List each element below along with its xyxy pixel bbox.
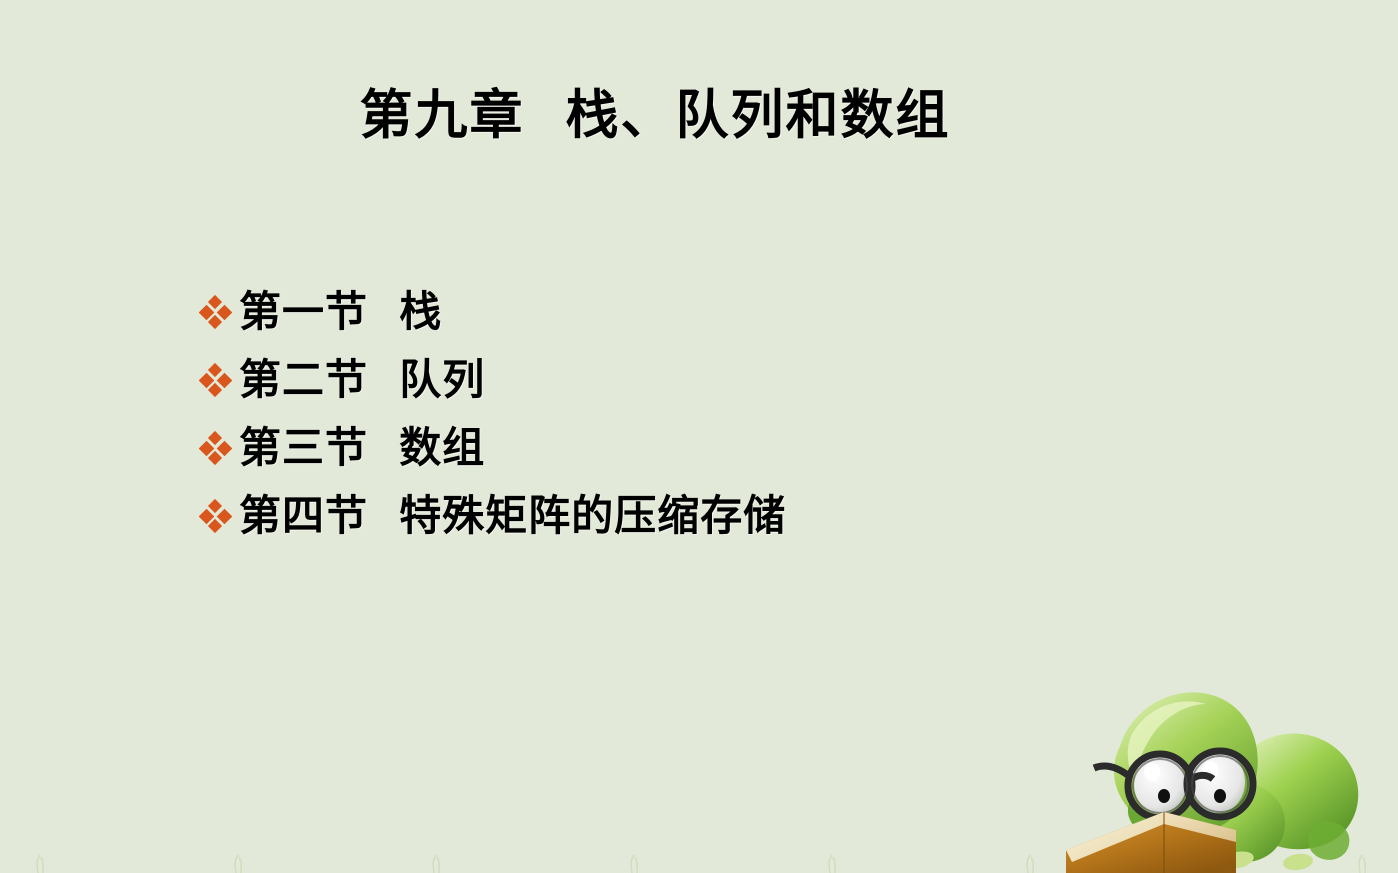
- outline-item-label: 第三节 数组: [239, 427, 485, 469]
- outline-item-label: 第四节 特殊矩阵的压缩存储: [239, 495, 786, 537]
- presentation-slide: 第九章 栈、队列和数组 第一节 栈 第二节 队列 第三节 数组 第四: [0, 0, 1398, 873]
- bookworm-reading-icon: [1060, 672, 1398, 873]
- diamond-cluster-icon: [197, 501, 239, 531]
- list-item[interactable]: 第四节 特殊矩阵的压缩存储: [197, 482, 1297, 550]
- diamond-cluster-icon: [197, 365, 239, 395]
- outline-item-label: 第二节 队列: [239, 359, 485, 401]
- outline-list: 第一节 栈 第二节 队列 第三节 数组 第四节 特殊矩阵的压缩存储: [197, 278, 1297, 550]
- list-item[interactable]: 第三节 数组: [197, 414, 1297, 482]
- list-item[interactable]: 第二节 队列: [197, 346, 1297, 414]
- list-item[interactable]: 第一节 栈: [197, 278, 1297, 346]
- diamond-cluster-icon: [197, 297, 239, 327]
- diamond-cluster-icon: [197, 433, 239, 463]
- outline-item-label: 第一节 栈: [239, 291, 442, 333]
- grass-blades-icon: [0, 843, 1398, 873]
- page-title: 第九章 栈、队列和数组: [0, 86, 1310, 145]
